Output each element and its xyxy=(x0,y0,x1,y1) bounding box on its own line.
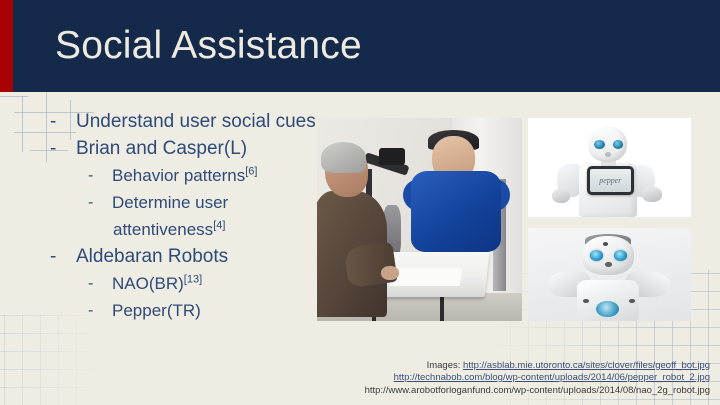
bullet-text: Understand user social cues xyxy=(76,108,316,135)
pepper-chest-tablet: pepper xyxy=(587,166,634,196)
bullet-text: Aldebaran Robots xyxy=(76,243,228,270)
citation-link-2[interactable]: http://technabob.com/blog/wp-content/upl… xyxy=(365,372,710,385)
bullet-dash: - xyxy=(88,270,112,297)
bullet-text: attentiveness[4] xyxy=(113,216,225,243)
bullet-dash: - xyxy=(88,162,112,189)
citation-ref: [13] xyxy=(184,273,202,285)
slide-canvas: Social Assistance - Understand user soci… xyxy=(0,0,720,405)
citation-line-1[interactable]: Images: http://asblab.mie.utoronto.ca/si… xyxy=(365,360,710,373)
bullet-text: Behavior patterns[6] xyxy=(112,162,257,189)
list-item: - Behavior patterns[6] xyxy=(0,162,320,189)
bullet-text: NAO(BR)[13] xyxy=(112,270,202,297)
list-item: - Understand user social cues xyxy=(0,108,320,135)
citation-link-3[interactable]: http://www.arobotforloganfund.com/wp-con… xyxy=(365,385,710,398)
image-nao-robot xyxy=(528,228,691,321)
list-item: - Brian and Casper(L) xyxy=(0,135,320,162)
bullet-dash: - xyxy=(50,108,76,135)
page-title: Social Assistance xyxy=(55,24,362,68)
bullet-list: - Understand user social cues - Brian an… xyxy=(0,108,320,324)
citation-link-1[interactable]: http://asblab.mie.utoronto.ca/sites/clov… xyxy=(463,360,710,371)
bullet-dash: - xyxy=(88,189,112,216)
slide-header: Social Assistance xyxy=(13,0,720,92)
bullet-dash: - xyxy=(50,135,76,162)
list-item: - Determine user xyxy=(0,189,320,216)
citation-lead-label: Images: xyxy=(427,360,463,371)
list-item: - NAO(BR)[13] xyxy=(0,270,320,297)
citation-ref: [6] xyxy=(245,165,257,177)
bullet-text: Pepper(TR) xyxy=(112,297,201,324)
footer-citations: Images: http://asblab.mie.utoronto.ca/si… xyxy=(365,360,710,398)
accent-bar-red xyxy=(0,0,13,92)
bullet-dash: - xyxy=(88,297,112,324)
list-item-continuation: attentiveness[4] xyxy=(0,216,320,243)
citation-ref: [4] xyxy=(213,219,225,231)
list-item: - Pepper(TR) xyxy=(0,297,320,324)
image-brian-robot xyxy=(317,118,522,321)
bullet-text: Determine user xyxy=(112,189,228,216)
pepper-tablet-label: pepper xyxy=(599,176,621,185)
list-item: - Aldebaran Robots xyxy=(0,243,320,270)
bullet-text: Brian and Casper(L) xyxy=(76,135,247,162)
image-pepper-robot: pepper xyxy=(528,118,691,217)
grid-pattern-bottom-left xyxy=(0,315,120,405)
bullet-dash: - xyxy=(50,243,76,270)
